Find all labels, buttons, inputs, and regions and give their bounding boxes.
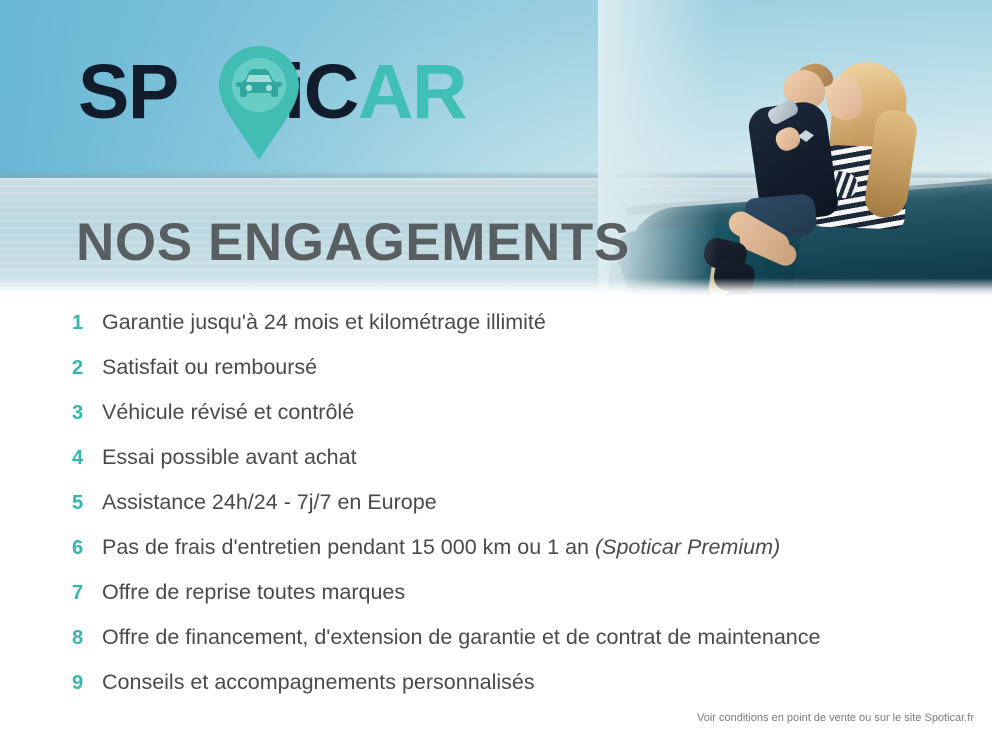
list-item: 4 Essai possible avant achat [0, 447, 992, 492]
list-item-text: Garantie jusqu'à 24 mois et kilométrage … [102, 312, 546, 334]
list-item: 3 Véhicule révisé et contrôlé [0, 402, 992, 447]
list-item: 6 Pas de frais d'entretien pendant 15 00… [0, 537, 992, 582]
footer-disclaimer: Voir conditions en point de vente ou sur… [697, 712, 974, 724]
list-item: 7 Offre de reprise toutes marques [0, 582, 992, 627]
list-item: 9 Conseils et accompagnements personnali… [0, 672, 992, 717]
list-item-number: 2 [72, 358, 102, 378]
commitments-list: 1 Garantie jusqu'à 24 mois et kilométrag… [0, 312, 992, 717]
list-item: 1 Garantie jusqu'à 24 mois et kilométrag… [0, 312, 992, 357]
list-item-number: 3 [72, 403, 102, 423]
list-item-number: 7 [72, 583, 102, 603]
list-item: 2 Satisfait ou remboursé [0, 357, 992, 402]
logo-text-sp: SP [78, 49, 178, 135]
list-item-number: 1 [72, 313, 102, 333]
list-item-number: 9 [72, 673, 102, 693]
list-item-text: Pas de frais d'entretien pendant 15 000 … [102, 537, 780, 559]
list-item-text: Offre de reprise toutes marques [102, 582, 405, 604]
list-item-text-emphasis: (Spoticar Premium) [595, 535, 780, 559]
list-item-text-main: Pas de frais d'entretien pendant 15 000 … [102, 535, 595, 559]
page-title: NOS ENGAGEMENTS [76, 216, 630, 269]
list-item: 8 Offre de financement, d'extension de g… [0, 627, 992, 672]
list-item-text: Véhicule révisé et contrôlé [102, 402, 354, 424]
list-item-text: Conseils et accompagnements personnalisé… [102, 672, 535, 694]
list-item-number: 8 [72, 628, 102, 648]
map-pin-car-icon [216, 44, 302, 162]
list-item-text: Offre de financement, d'extension de gar… [102, 627, 820, 649]
list-item-number: 5 [72, 493, 102, 513]
list-item-text: Assistance 24h/24 - 7j/7 en Europe [102, 492, 437, 514]
logo-text-ar: AR [358, 49, 466, 135]
hero-photo [598, 0, 992, 296]
spoticar-commitments-page: SPTiCAR NOS ENGAGEMENTS 1 Garantie [0, 0, 992, 744]
hero-bottom-fade [0, 278, 992, 296]
list-item-number: 4 [72, 448, 102, 468]
hero-banner: SPTiCAR NOS ENGAGEMENTS [0, 0, 992, 296]
list-item-number: 6 [72, 538, 102, 558]
list-item-text: Essai possible avant achat [102, 447, 357, 469]
list-item-text: Satisfait ou remboursé [102, 357, 317, 379]
list-item: 5 Assistance 24h/24 - 7j/7 en Europe [0, 492, 992, 537]
